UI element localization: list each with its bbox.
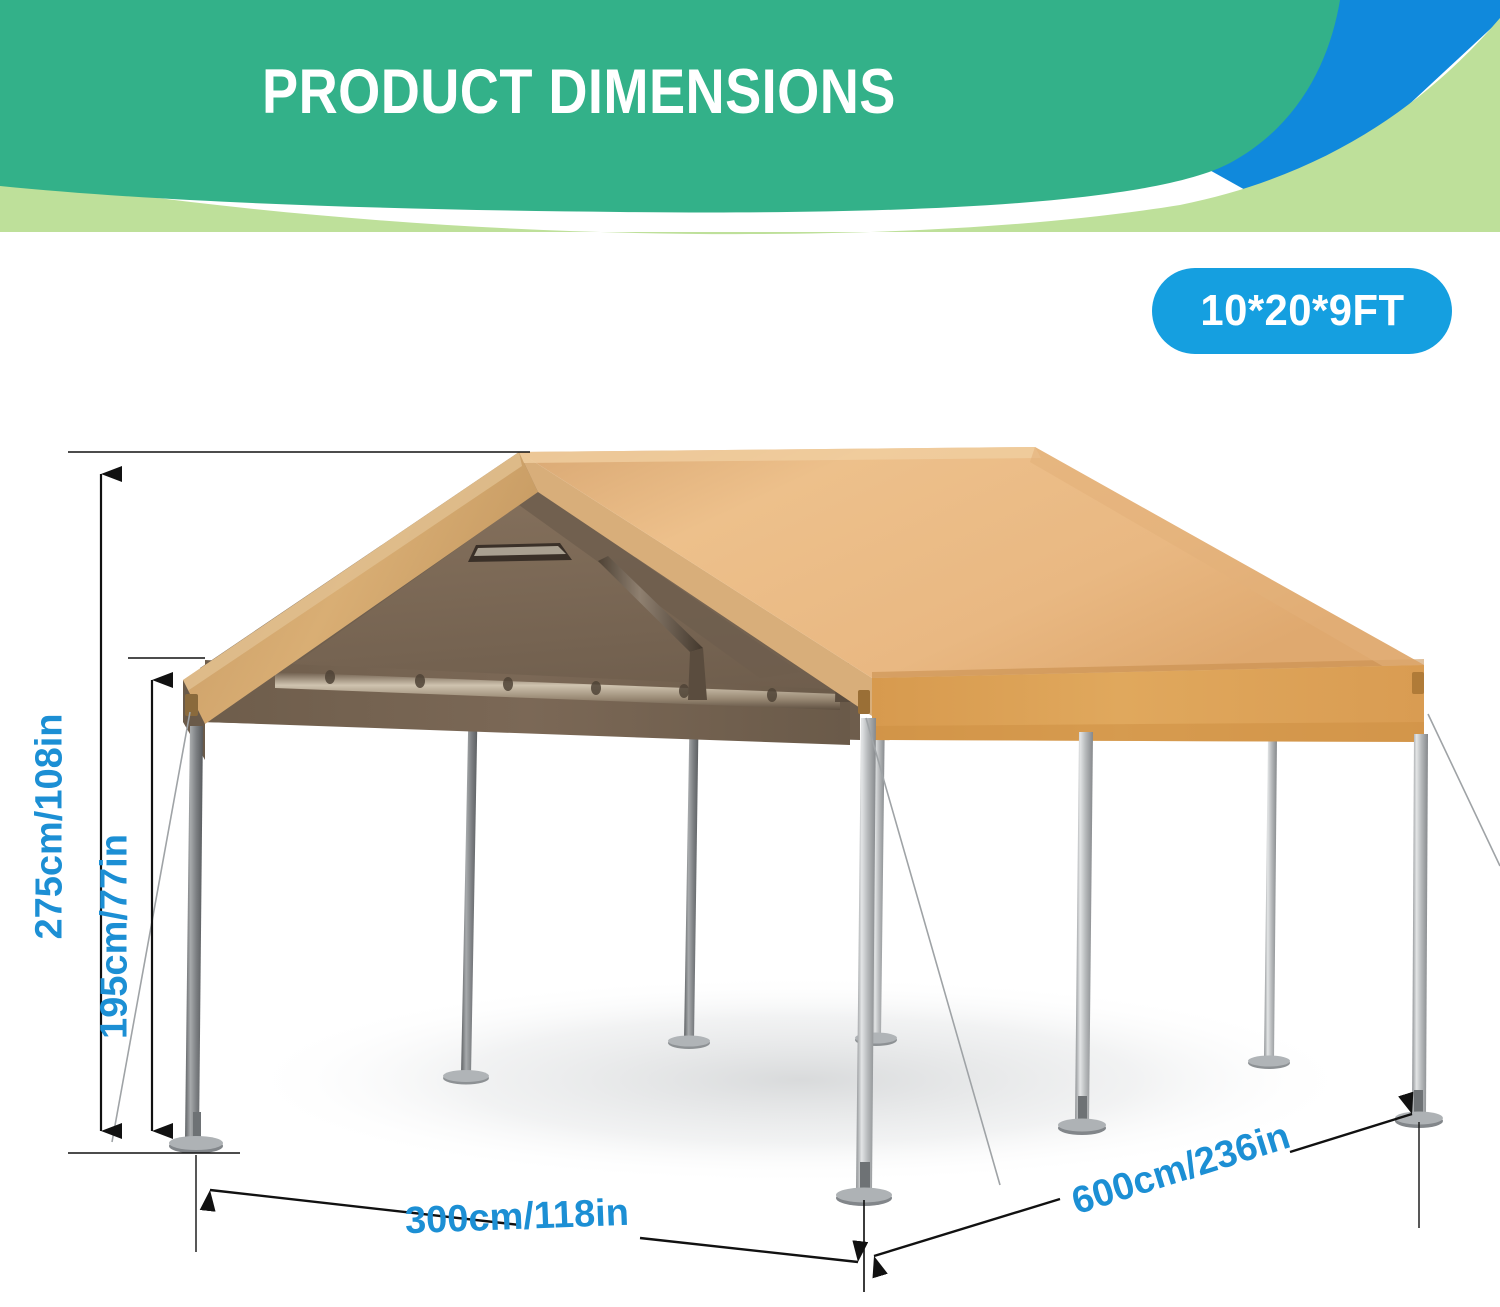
leg-front-left bbox=[169, 726, 223, 1154]
dimension-label-eave-height: 195cm/77in bbox=[94, 777, 137, 1097]
guy-wire-right bbox=[1428, 714, 1500, 866]
dimension-label-total-height: 275cm/108in bbox=[29, 667, 72, 987]
product-dimensions-infographic: PRODUCT DIMENSIONS 10*20*9FT bbox=[0, 0, 1500, 1307]
leg-front-right bbox=[1395, 734, 1443, 1128]
dim-arrow-depth-a bbox=[874, 1199, 1060, 1256]
eave-buckle-left bbox=[185, 694, 198, 716]
eave-buckle-right bbox=[1412, 672, 1424, 694]
canopy bbox=[183, 447, 1424, 760]
eave-buckle-mid bbox=[858, 690, 870, 714]
dim-arrow-width-b bbox=[640, 1238, 858, 1262]
carport-dimension-drawing bbox=[0, 0, 1500, 1307]
dimension-label-width: 300cm/118in bbox=[404, 1192, 629, 1244]
